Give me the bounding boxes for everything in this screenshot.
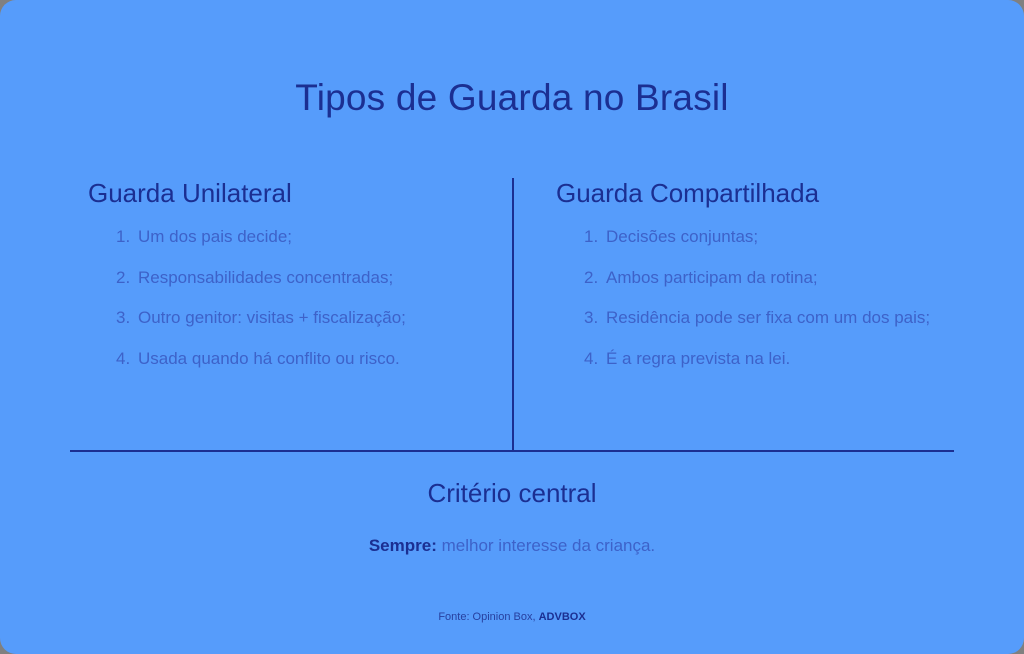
source-prefix: Fonte: Opinion Box, [438, 611, 535, 623]
list-item: É a regra prevista na lei. [584, 347, 954, 372]
list-item: Usada quando há conflito ou risco. [116, 347, 478, 372]
criterio-central-heading: Critério central [0, 478, 1024, 509]
criterio-central-text: Sempre: melhor interesse da criança. [0, 534, 1024, 558]
list-item: Responsabilidades concentradas; [116, 266, 478, 291]
list-item: Ambos participam da rotina; [584, 266, 954, 291]
criterio-label: Sempre: [369, 536, 437, 555]
list-item: Outro genitor: visitas + fiscalização; [116, 306, 478, 331]
list-guarda-compartilhada: Decisões conjuntas; Ambos participam da … [548, 225, 954, 372]
source-brand: ADVBOX [539, 611, 586, 623]
infographic-canvas: Tipos de Guarda no Brasil Guarda Unilate… [0, 0, 1024, 654]
comparison-columns: Guarda Unilateral Um dos pais decide; Re… [70, 178, 954, 450]
column-heading-right: Guarda Compartilhada [548, 178, 954, 209]
column-guarda-unilateral: Guarda Unilateral Um dos pais decide; Re… [70, 178, 512, 450]
list-item: Residência pode ser fixa com um dos pais… [584, 306, 954, 331]
criterio-value: melhor interesse da criança. [442, 536, 656, 555]
list-item: Um dos pais decide; [116, 225, 478, 250]
horizontal-divider [70, 450, 954, 452]
vertical-divider [512, 178, 514, 450]
list-item: Decisões conjuntas; [584, 225, 954, 250]
column-heading-left: Guarda Unilateral [70, 178, 478, 209]
list-guarda-unilateral: Um dos pais decide; Responsabilidades co… [70, 225, 478, 372]
page-title: Tipos de Guarda no Brasil [0, 78, 1024, 119]
source-credit: Fonte: Opinion Box, ADVBOX [0, 610, 1024, 624]
column-guarda-compartilhada: Guarda Compartilhada Decisões conjuntas;… [512, 178, 954, 450]
